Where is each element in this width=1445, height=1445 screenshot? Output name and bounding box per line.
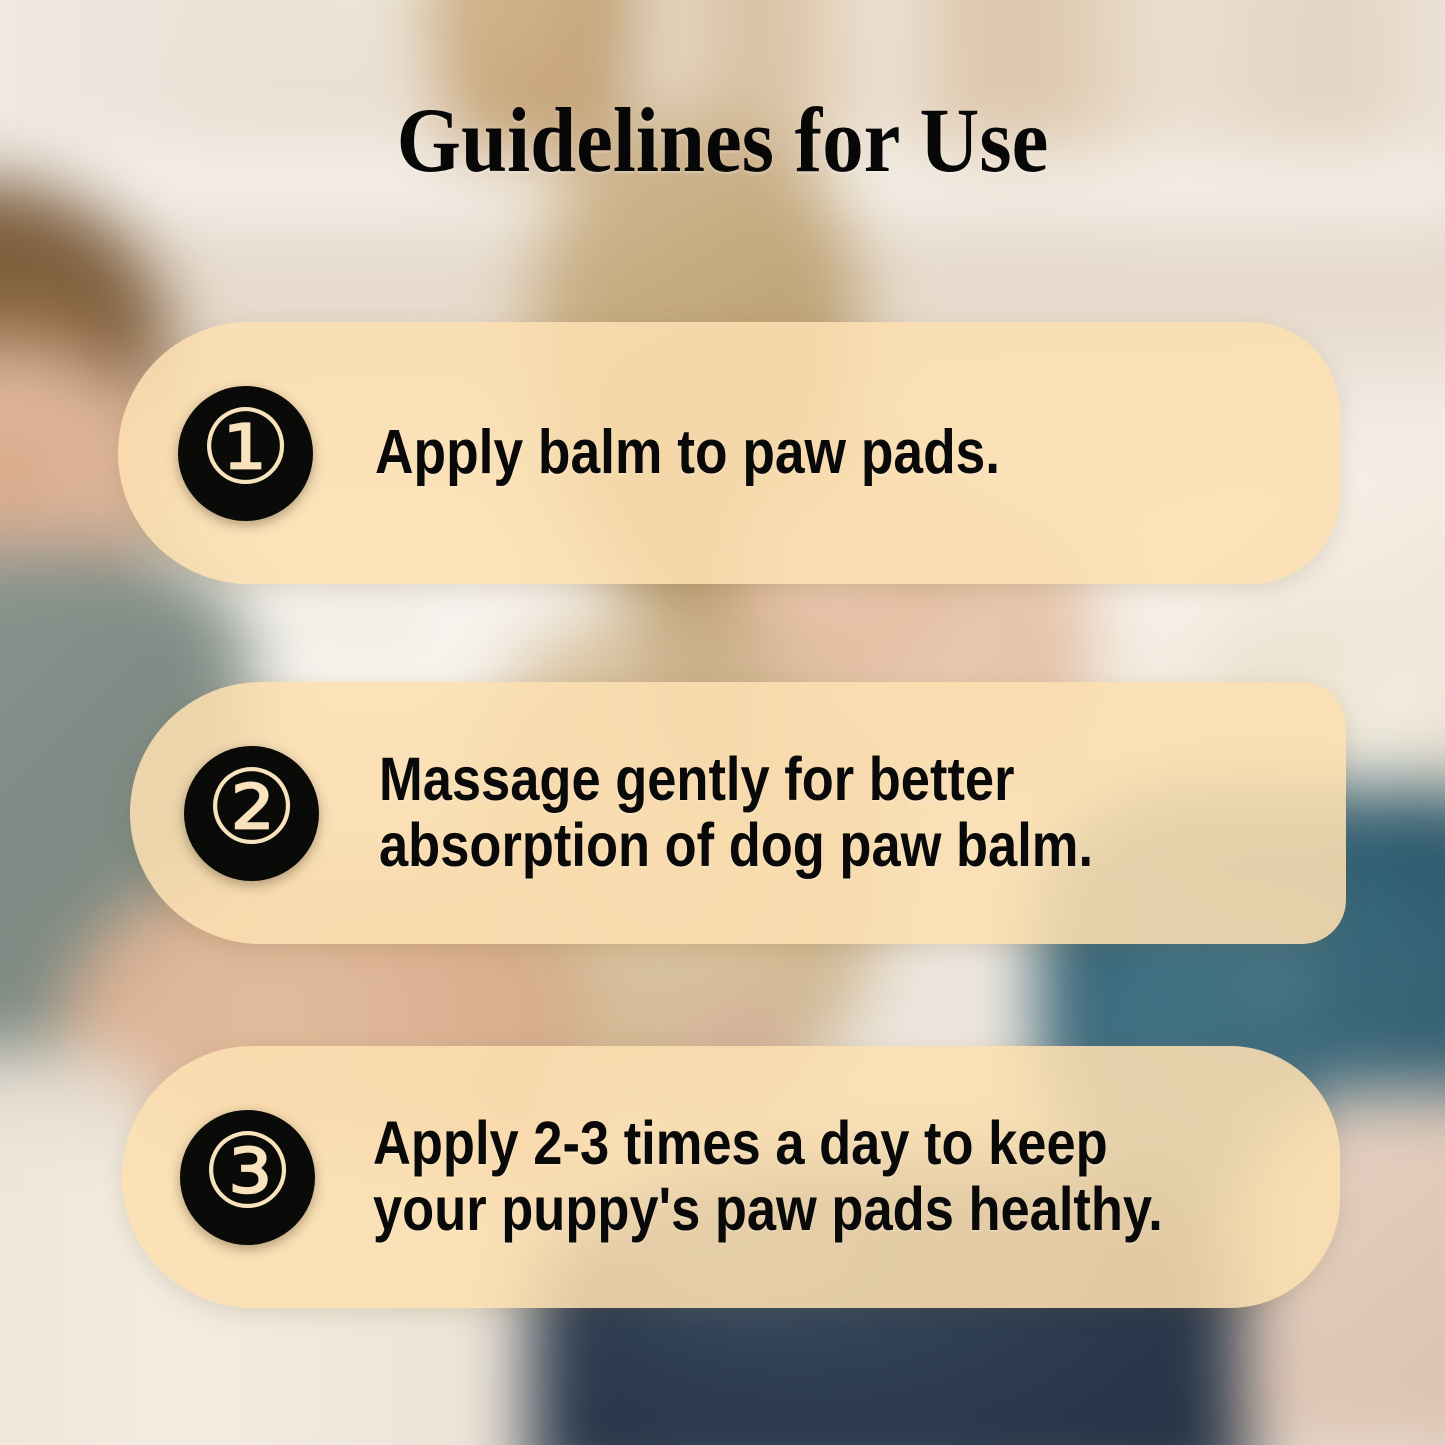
guidelines-poster: Guidelines for Use ① Apply balm to paw p… <box>0 0 1445 1445</box>
step-badge-1: ① <box>178 386 313 521</box>
step-item-1: ① Apply balm to paw pads. <box>118 322 1340 584</box>
content-layer: Guidelines for Use ① Apply balm to paw p… <box>0 0 1445 1445</box>
page-title: Guidelines for Use <box>72 94 1373 186</box>
step-item-3: ③ Apply 2-3 times a day to keep your pup… <box>122 1046 1340 1308</box>
step-text-3: Apply 2-3 times a day to keep your puppy… <box>373 1111 1163 1243</box>
step-badge-2: ② <box>184 746 319 881</box>
step-number-3: ③ <box>201 1122 293 1225</box>
step-text-1: Apply balm to paw pads. <box>375 420 1000 487</box>
step-badge-3: ③ <box>180 1110 315 1245</box>
step-item-2: ② Massage gently for better absorption o… <box>130 682 1346 944</box>
step-text-2: Massage gently for better absorption of … <box>379 747 1093 879</box>
step-number-2: ② <box>205 758 297 861</box>
step-number-1: ① <box>199 398 291 501</box>
